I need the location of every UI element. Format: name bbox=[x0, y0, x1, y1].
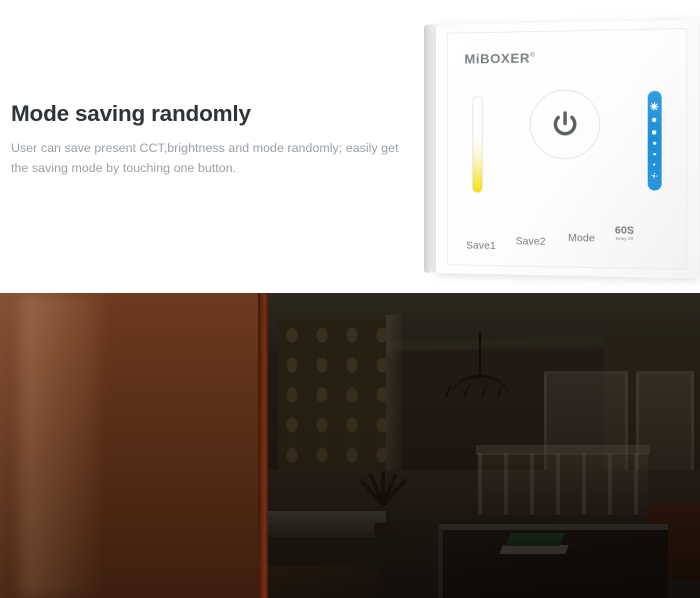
mode-button-label[interactable]: Mode bbox=[568, 233, 595, 245]
top-subcopy: User can save present CCT,brightness and… bbox=[11, 138, 411, 178]
brightness-step-dot bbox=[653, 142, 656, 145]
panel-3d-body: MiBOXER® bbox=[424, 25, 690, 273]
save1-button-label[interactable]: Save1 bbox=[466, 240, 496, 252]
sun-bright-icon bbox=[650, 103, 658, 111]
panel-front-face: MiBOXER® bbox=[436, 19, 699, 278]
power-icon bbox=[549, 109, 581, 141]
power-button[interactable] bbox=[529, 89, 600, 160]
top-headline: Mode saving randomly bbox=[11, 100, 411, 127]
sun-ray bbox=[656, 103, 657, 104]
panel-touch-labels: Save1 Save2 Mode 60SDelay Off bbox=[462, 211, 673, 254]
top-text-block: Mode saving randomly User can save prese… bbox=[11, 100, 411, 178]
miboxer-logo-text: MiBOXER bbox=[464, 50, 530, 66]
brightness-step-dot bbox=[653, 153, 656, 156]
sun-dim-icon bbox=[652, 173, 657, 178]
delay-sublabel: Delay Off bbox=[615, 237, 634, 241]
sun-ray bbox=[656, 108, 657, 109]
brightness-slider[interactable] bbox=[648, 91, 662, 191]
cct-slider[interactable] bbox=[472, 96, 483, 193]
save2-button-label[interactable]: Save2 bbox=[516, 237, 546, 249]
brightness-step-dot bbox=[653, 163, 655, 165]
brightness-step-dot bbox=[652, 130, 656, 134]
miboxer-logo: MiBOXER® bbox=[464, 50, 535, 66]
panel-glass-inner: MiBOXER® bbox=[447, 28, 687, 269]
night-light-section: Night Light Guidance Function LED indica… bbox=[0, 293, 700, 598]
night-dim-overlay bbox=[268, 293, 700, 598]
wall-light-streak bbox=[20, 293, 98, 598]
delay-off-button-label[interactable]: 60SDelay Off bbox=[615, 225, 634, 241]
wall-panel-device-lit-off[interactable]: MiBOXER® bbox=[424, 25, 690, 273]
delay-value: 60S bbox=[615, 225, 634, 237]
sun-ray bbox=[651, 108, 652, 109]
brightness-step-dot bbox=[652, 118, 656, 122]
dark-living-room-photo bbox=[268, 293, 700, 598]
dark-wall-background bbox=[0, 293, 268, 598]
mode-saving-section: Mode saving randomly User can save prese… bbox=[0, 0, 700, 293]
sun-ray bbox=[651, 103, 652, 104]
registered-trademark-icon: ® bbox=[530, 53, 535, 59]
